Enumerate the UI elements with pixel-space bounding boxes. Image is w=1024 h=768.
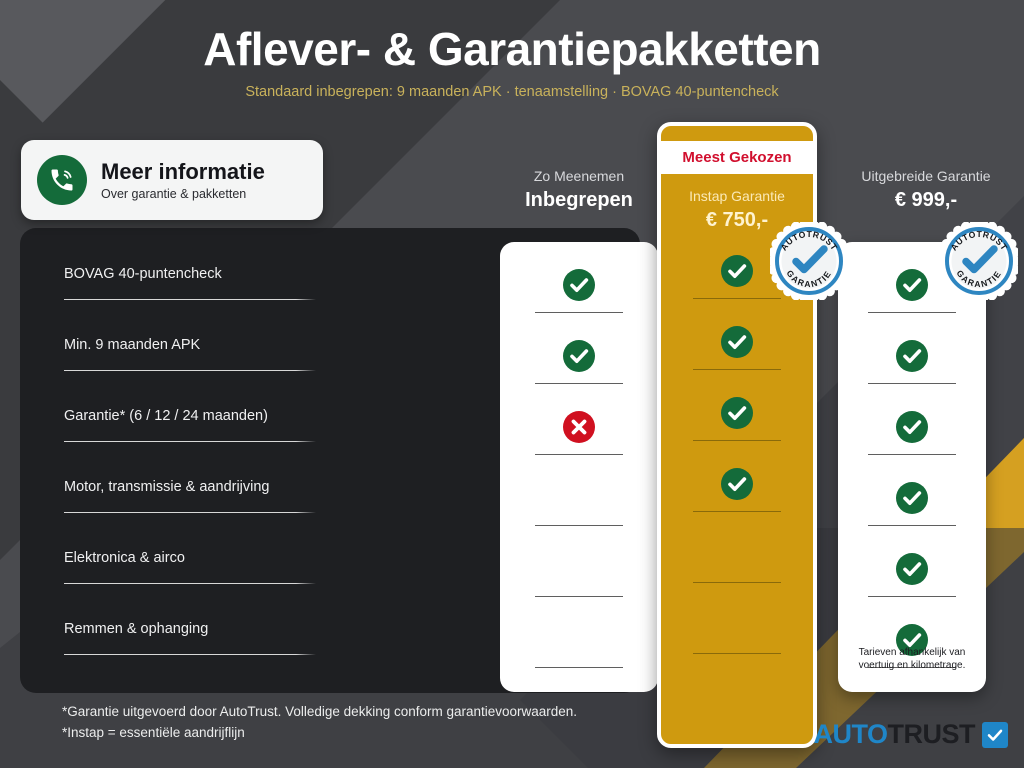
column-price: Inbegrepen bbox=[500, 189, 658, 212]
feature-row: Elektronica & airco bbox=[64, 528, 319, 599]
column-name: Zo Meenemen bbox=[500, 168, 658, 184]
check-icon bbox=[896, 482, 928, 514]
plan-cell-divider bbox=[868, 383, 956, 384]
plan-cell-mark bbox=[721, 386, 753, 440]
plan-cell-mark bbox=[721, 457, 753, 511]
check-icon bbox=[896, 340, 928, 372]
check-icon bbox=[563, 340, 595, 372]
plan-cell-divider bbox=[868, 312, 956, 313]
feature-divider bbox=[64, 441, 316, 442]
plan-cell-mark bbox=[896, 542, 928, 596]
check-icon bbox=[721, 326, 753, 358]
feature-label: BOVAG 40-puntencheck bbox=[64, 244, 319, 282]
plan-cell-mark bbox=[896, 471, 928, 525]
plan-cell-divider bbox=[535, 596, 623, 597]
plan-cell bbox=[661, 457, 813, 528]
check-icon bbox=[896, 553, 928, 585]
feature-divider bbox=[64, 583, 316, 584]
page-title: Aflever- & Garantiepakketten bbox=[0, 22, 1024, 76]
check-icon bbox=[896, 411, 928, 443]
plan-cell bbox=[838, 400, 986, 471]
plan-cell bbox=[661, 315, 813, 386]
check-icon bbox=[721, 468, 753, 500]
feature-row: Min. 9 maanden APK bbox=[64, 315, 319, 386]
plan-cell-mark bbox=[563, 400, 595, 454]
plan-cell-mark bbox=[721, 315, 753, 369]
footer-line-2: *Instap = essentiële aandrijflijn bbox=[62, 723, 577, 744]
plan-cell bbox=[661, 599, 813, 670]
plan-cell-mark bbox=[896, 258, 928, 312]
column-name: Instap Garantie bbox=[661, 188, 813, 204]
plan-cells bbox=[661, 244, 813, 670]
plan-cell-mark bbox=[721, 244, 753, 298]
page-subtitle: Standaard inbegrepen: 9 maanden APK · te… bbox=[0, 84, 1024, 100]
plan-cell bbox=[500, 329, 658, 400]
plan-cell bbox=[500, 258, 658, 329]
plan-cell-divider bbox=[535, 312, 623, 313]
feature-row: Garantie* (6 / 12 / 24 maanden) bbox=[64, 386, 319, 457]
autotrust-logo: AUTO TRUST bbox=[813, 719, 1008, 750]
plan-cell-divider bbox=[868, 596, 956, 597]
column-header-uitgebreide-garantie: Uitgebreide Garantie € 999,- bbox=[830, 168, 1022, 212]
plan-cell-divider bbox=[693, 298, 781, 299]
cross-icon bbox=[563, 411, 595, 443]
logo-text-trust: TRUST bbox=[888, 719, 976, 750]
page-header: Aflever- & Garantiepakketten Standaard i… bbox=[0, 22, 1024, 100]
more-information-title: Meer informatie bbox=[101, 159, 265, 184]
plan-cell-mark bbox=[896, 329, 928, 383]
feature-row: Remmen & ophanging bbox=[64, 599, 319, 670]
pricing-infographic: Aflever- & Garantiepakketten Standaard i… bbox=[0, 0, 1024, 768]
feature-label: Remmen & ophanging bbox=[64, 599, 319, 637]
footer-disclaimer: *Garantie uitgevoerd door AutoTrust. Vol… bbox=[62, 702, 577, 744]
plan-cell bbox=[661, 528, 813, 599]
more-information-text: Meer informatie Over garantie & pakkette… bbox=[101, 159, 265, 201]
plan-cell-divider bbox=[693, 369, 781, 370]
feature-divider bbox=[64, 299, 316, 300]
more-information-subtitle: Over garantie & pakketten bbox=[101, 187, 265, 201]
plan-cell bbox=[661, 386, 813, 457]
phone-ringing-icon bbox=[37, 155, 87, 205]
column-header-zo-meenemen: Zo Meenemen Inbegrepen bbox=[500, 168, 658, 212]
plan-cell-mark bbox=[563, 329, 595, 383]
more-information-card[interactable]: Meer informatie Over garantie & pakkette… bbox=[21, 140, 323, 220]
logo-text-auto: AUTO bbox=[813, 719, 887, 750]
plan-cell-divider bbox=[535, 525, 623, 526]
plan-cell-mark bbox=[896, 400, 928, 454]
plan-card-instap-garantie[interactable]: Meest Gekozen Instap Garantie € 750,- bbox=[657, 122, 817, 748]
plan-cell bbox=[500, 471, 658, 542]
feature-list: BOVAG 40-puntencheck Min. 9 maanden APK … bbox=[64, 244, 319, 670]
autotrust-seal-icon: AUTOTRUSTGARANTIE bbox=[940, 222, 1018, 300]
feature-divider bbox=[64, 370, 316, 371]
check-icon bbox=[896, 269, 928, 301]
plan-card-uitgebreide-garantie[interactable]: Tarieven afhankelijk van voertuig en kil… bbox=[838, 242, 986, 692]
check-icon bbox=[563, 269, 595, 301]
plan-cell-divider bbox=[535, 454, 623, 455]
checkbox-checked-icon bbox=[982, 722, 1008, 748]
feature-divider bbox=[64, 512, 316, 513]
column-name: Uitgebreide Garantie bbox=[830, 168, 1022, 184]
plan-cell bbox=[838, 329, 986, 400]
plan-cell-divider bbox=[868, 525, 956, 526]
plan-cell bbox=[500, 613, 658, 684]
plan-card-zo-meenemen[interactable] bbox=[500, 242, 658, 692]
plan-cell-divider bbox=[693, 440, 781, 441]
autotrust-seal-icon: AUTOTRUSTGARANTIE bbox=[770, 222, 848, 300]
most-chosen-badge: Meest Gekozen bbox=[661, 141, 813, 174]
plan-cell-divider bbox=[868, 454, 956, 455]
plan-cell bbox=[838, 471, 986, 542]
plan-cells bbox=[838, 258, 986, 684]
plan-cell bbox=[500, 400, 658, 471]
footer-line-1: *Garantie uitgevoerd door AutoTrust. Vol… bbox=[62, 702, 577, 723]
feature-label: Elektronica & airco bbox=[64, 528, 319, 566]
feature-row: BOVAG 40-puntencheck bbox=[64, 244, 319, 315]
plan-cell-divider bbox=[693, 653, 781, 654]
check-icon bbox=[721, 255, 753, 287]
most-chosen-badge-label: Meest Gekozen bbox=[682, 149, 791, 166]
plan-note: Tarieven afhankelijk van voertuig en kil… bbox=[838, 646, 986, 672]
feature-divider bbox=[64, 654, 316, 655]
plan-cell bbox=[838, 542, 986, 613]
plan-cell-divider bbox=[693, 582, 781, 583]
feature-label: Garantie* (6 / 12 / 24 maanden) bbox=[64, 386, 319, 424]
plan-cell-divider bbox=[535, 667, 623, 668]
plan-cell bbox=[500, 542, 658, 613]
feature-label: Motor, transmissie & aandrijving bbox=[64, 457, 319, 495]
feature-label: Min. 9 maanden APK bbox=[64, 315, 319, 353]
plan-cell-divider bbox=[535, 383, 623, 384]
plan-cell-divider bbox=[693, 511, 781, 512]
check-icon bbox=[721, 397, 753, 429]
plan-cells bbox=[500, 258, 658, 684]
feature-row: Motor, transmissie & aandrijving bbox=[64, 457, 319, 528]
plan-cell-mark bbox=[563, 258, 595, 312]
column-price: € 999,- bbox=[830, 189, 1022, 212]
